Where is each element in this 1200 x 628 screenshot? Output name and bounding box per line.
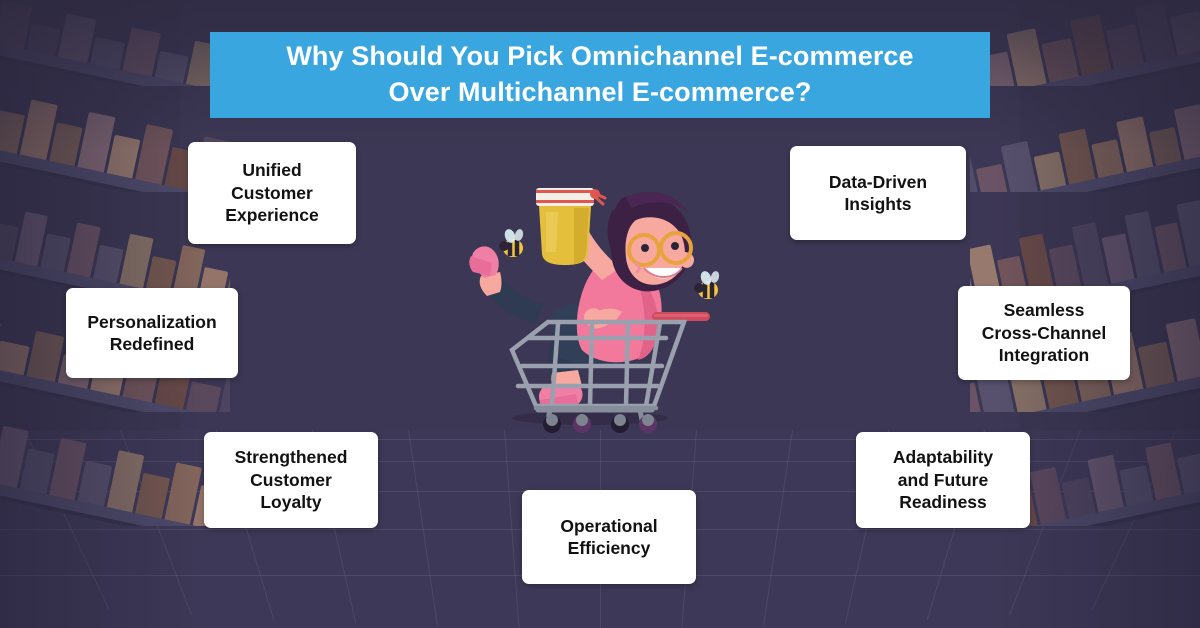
infographic-canvas: Why Should You Pick Omnichannel E-commer…: [0, 0, 1200, 628]
shelf-product: [1001, 141, 1038, 192]
floor-gridline: [763, 430, 793, 626]
shelf-row: [0, 416, 230, 526]
benefit-card-data-driven-insights[interactable]: Data-Driven Insights: [790, 146, 966, 240]
title-banner: Why Should You Pick Omnichannel E-commer…: [210, 32, 990, 118]
shelf-product: [1170, 11, 1200, 56]
shelf-row: [970, 0, 1200, 86]
benefit-card-seamless-cross-channel-integration[interactable]: Seamless Cross-Channel Integration: [958, 286, 1130, 380]
benefit-card-unified-customer-experience[interactable]: Unified Customer Experience: [188, 142, 356, 244]
shopper-illustration: [440, 168, 740, 440]
cart-handle: [652, 312, 710, 321]
shelf-product: [975, 164, 1008, 192]
shelf-product: [185, 381, 222, 412]
floor-gridline: [408, 430, 438, 626]
benefit-card-strengthened-customer-loyalty[interactable]: Strengthened Customer Loyalty: [204, 432, 378, 528]
shelf-product: [1138, 341, 1176, 388]
bee-left: [499, 228, 524, 257]
page-title: Why Should You Pick Omnichannel E-commer…: [286, 39, 913, 111]
left-leg: [469, 246, 544, 324]
shelf-row: [970, 200, 1200, 300]
benefit-card-operational-efficiency[interactable]: Operational Efficiency: [522, 490, 696, 584]
benefit-card-adaptability-and-future-readiness[interactable]: Adaptability and Future Readiness: [856, 432, 1030, 528]
bee-right: [694, 270, 720, 299]
head: [608, 192, 694, 292]
shelf-row: [970, 96, 1200, 192]
shelf-row: [0, 0, 230, 86]
benefit-card-personalization-redefined[interactable]: Personalization Redefined: [66, 288, 238, 378]
